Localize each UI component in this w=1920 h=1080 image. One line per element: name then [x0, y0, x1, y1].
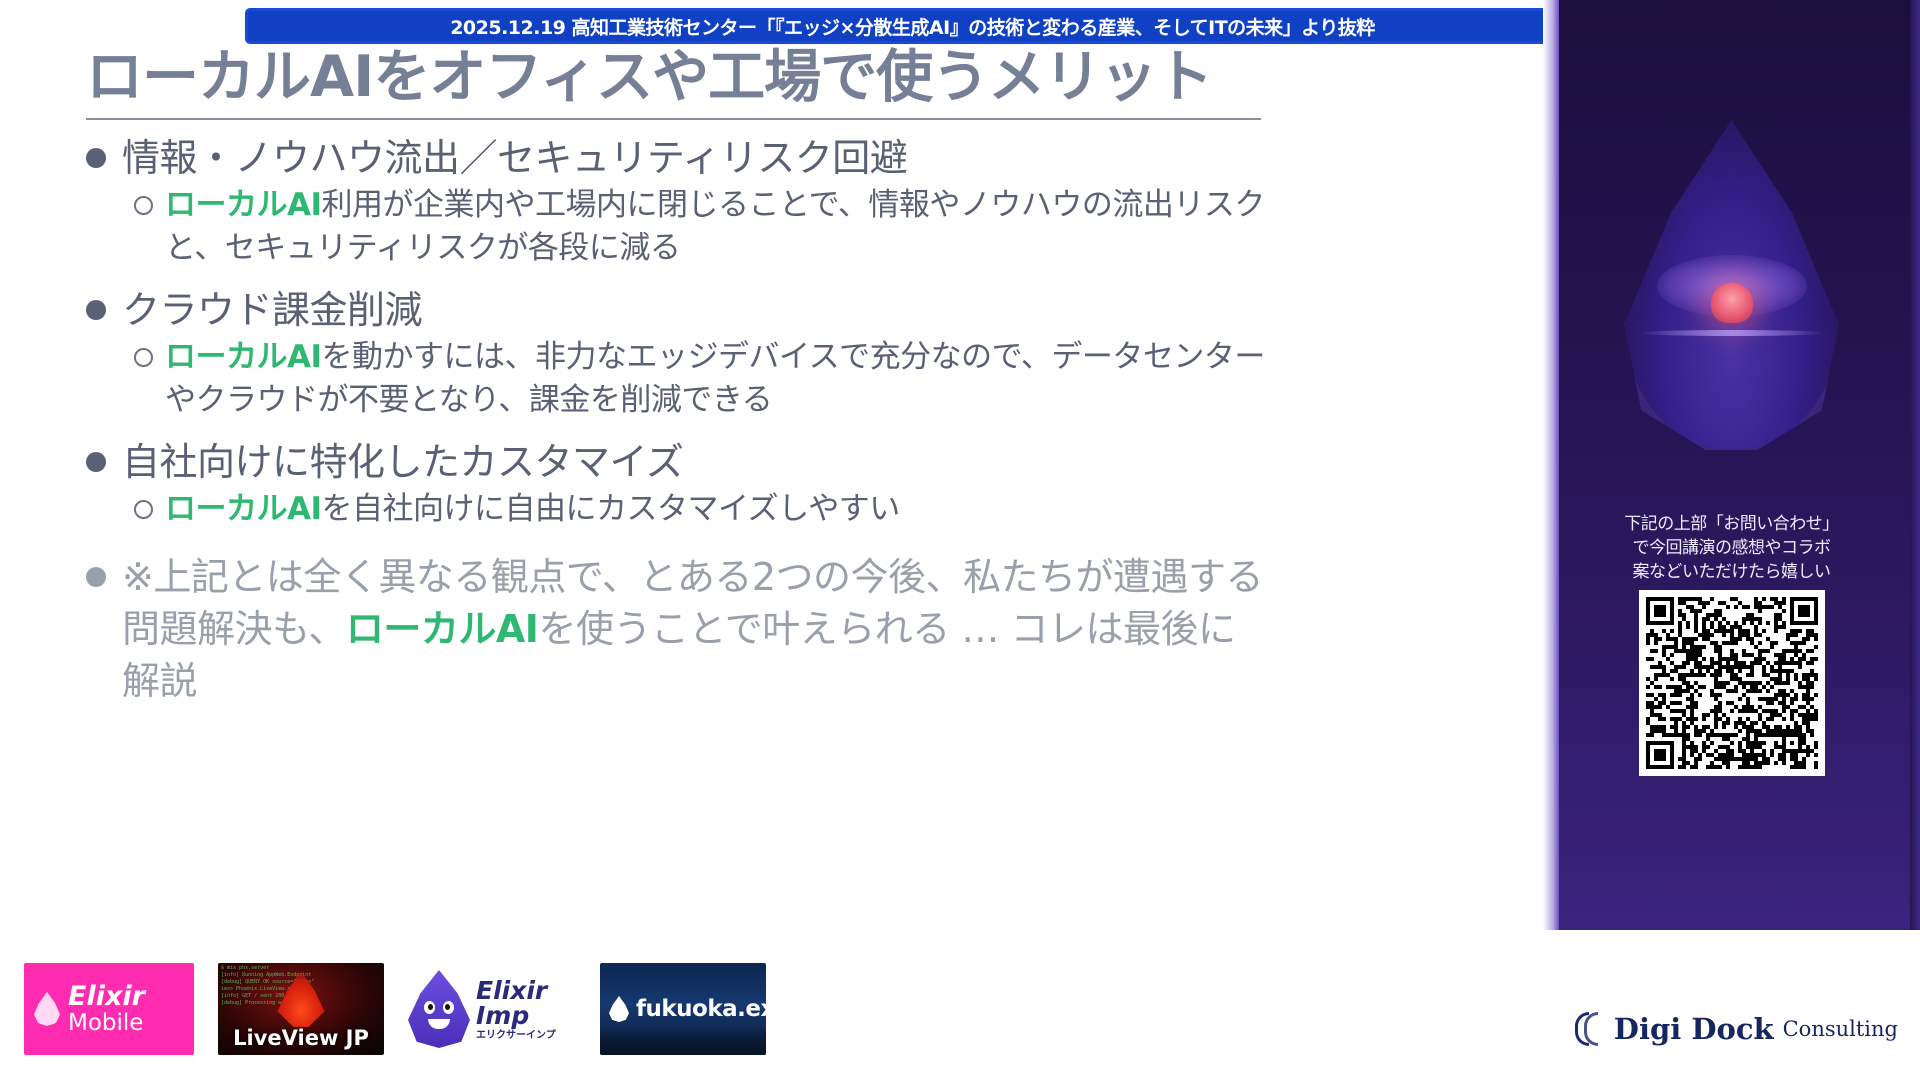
logo-text: Elixir — [476, 978, 556, 1003]
sub-bullet-circle-icon — [134, 500, 153, 519]
footer-brand-suffix: Consulting — [1783, 1017, 1898, 1041]
highlight-term: ローカルAI — [165, 339, 322, 375]
sub-bullet-text: ローカルAI利用が企業内や工場内に閉じることで、情報やノウハウの流出リスクと、セ… — [165, 184, 1271, 270]
bullet-heading-text: 自社向けに特化したカスタマイズ — [122, 436, 683, 488]
logo-liveview-jp[interactable]: $ mix phx.server [info] Running AppWeb.E… — [218, 963, 384, 1055]
slide-content: 情報・ノウハウ流出／セキュリティリスク回避 ローカルAI利用が企業内や工場内に閉… — [86, 132, 1271, 707]
bullet-heading: 自社向けに特化したカスタマイズ — [86, 436, 1271, 488]
header-banner: 2025.12.19 高知工業技術センター「『エッジ×分散生成AI』の技術と変わ… — [245, 8, 1580, 44]
sidebar-caption-line: で今回講演の感想やコラボ — [1549, 536, 1914, 560]
note-dot-icon — [86, 567, 106, 587]
highlight-term: ローカルAI — [165, 187, 322, 223]
logo-elixir-imp[interactable]: Elixir Imp エリクサーインプ — [408, 963, 576, 1055]
sidebar-caption-line: 案などいただけたら嬉しい — [1549, 560, 1914, 584]
sub-bullet: ローカルAI利用が企業内や工場内に閉じることで、情報やノウハウの流出リスクと、セ… — [134, 184, 1271, 270]
bullet-section: 自社向けに特化したカスタマイズ ローカルAIを自社向けに自由にカスタマイズしやす… — [86, 436, 1271, 531]
sub-bullet-circle-icon — [134, 348, 153, 367]
bullet-heading: クラウド課金削減 — [86, 284, 1271, 336]
logo-text: Imp — [476, 1003, 556, 1028]
sidebar-panel: 下記の上部「お問い合わせ」 で今回講演の感想やコラボ 案などいただけたら嬉しい — [1543, 0, 1920, 930]
bullet-section: 情報・ノウハウ流出／セキュリティリスク回避 ローカルAI利用が企業内や工場内に閉… — [86, 132, 1271, 270]
sub-bullet-rest: を自社向けに自由にカスタマイズしやすい — [322, 491, 900, 527]
sub-bullet-rest: 利用が企業内や工場内に閉じることで、情報やノウハウの流出リスクと、セキュリティリ… — [165, 187, 1265, 266]
bullet-dot-icon — [86, 148, 106, 168]
qr-code[interactable] — [1639, 590, 1825, 776]
elixir-drop-icon — [34, 992, 60, 1026]
bullet-dot-icon — [86, 452, 106, 472]
bullet-heading: 情報・ノウハウ流出／セキュリティリスク回避 — [86, 132, 1271, 184]
sub-bullet: ローカルAIを動かすには、非力なエッジデバイスで充分なので、データセンターやクラ… — [134, 336, 1271, 422]
logo-text: Mobile — [68, 1011, 145, 1035]
logo-strip: Elixir Mobile $ mix phx.server [info] Ru… — [24, 963, 904, 1055]
title-divider — [86, 118, 1261, 120]
digidock-mark-icon — [1575, 1012, 1605, 1046]
logo-text: LiveView JP — [218, 1026, 384, 1055]
sidebar-caption: 下記の上部「お問い合わせ」 で今回講演の感想やコラボ 案などいただけたら嬉しい — [1543, 512, 1920, 584]
sub-bullet-circle-icon — [134, 196, 153, 215]
bullet-heading-text: 情報・ノウハウ流出／セキュリティリスク回避 — [122, 132, 907, 184]
logo-elixir-mobile[interactable]: Elixir Mobile — [24, 963, 194, 1055]
footer-brand-name: Digi Dock — [1614, 1012, 1774, 1046]
drop-band-icon — [1639, 330, 1825, 336]
logo-subtext: エリクサーインプ — [476, 1031, 556, 1041]
page-title: ローカルAIをオフィスや工場で使うメリット — [86, 44, 1266, 110]
sub-bullet-text: ローカルAIを自社向けに自由にカスタマイズしやすい — [165, 488, 1271, 531]
qr-code-canvas — [1646, 597, 1818, 769]
sub-bullet-text: ローカルAIを動かすには、非力なエッジデバイスで充分なので、データセンターやクラ… — [165, 336, 1271, 422]
highlight-term: ローカルAI — [165, 491, 322, 527]
note-text: ※上記とは全く異なる観点で、とある2つの今後、私たちが遭遇する問題解決も、ローカ… — [122, 551, 1271, 707]
logo-text: fukuoka.ex — [636, 996, 766, 1022]
logo-text: Elixir — [68, 983, 145, 1011]
drop-icon — [609, 996, 629, 1022]
note-block: ※上記とは全く異なる観点で、とある2つの今後、私たちが遭遇する問題解決も、ローカ… — [86, 551, 1271, 707]
header-banner-wrapper: 2025.12.19 高知工業技術センター「『エッジ×分散生成AI』の技術と変わ… — [245, 8, 1580, 44]
bullet-heading-text: クラウド課金削減 — [122, 284, 422, 336]
bullet-section: クラウド課金削減 ローカルAIを動かすには、非力なエッジデバイスで充分なので、デ… — [86, 284, 1271, 422]
sub-bullet: ローカルAIを自社向けに自由にカスタマイズしやすい — [134, 488, 1271, 531]
highlight-term: ローカルAI — [346, 607, 539, 651]
logo-fukuoka-ex[interactable]: fukuoka.ex — [600, 963, 766, 1055]
drop-core-icon — [1711, 283, 1753, 323]
skyline-backdrop — [600, 1025, 766, 1055]
footer-brand: Digi Dock Consulting — [1575, 1012, 1898, 1046]
sidebar-caption-line: 下記の上部「お問い合わせ」 — [1549, 512, 1914, 536]
sub-bullet-rest: を動かすには、非力なエッジデバイスで充分なので、データセンターやクラウドが不要と… — [165, 339, 1265, 418]
bullet-dot-icon — [86, 300, 106, 320]
imp-mascot-icon — [408, 970, 470, 1048]
